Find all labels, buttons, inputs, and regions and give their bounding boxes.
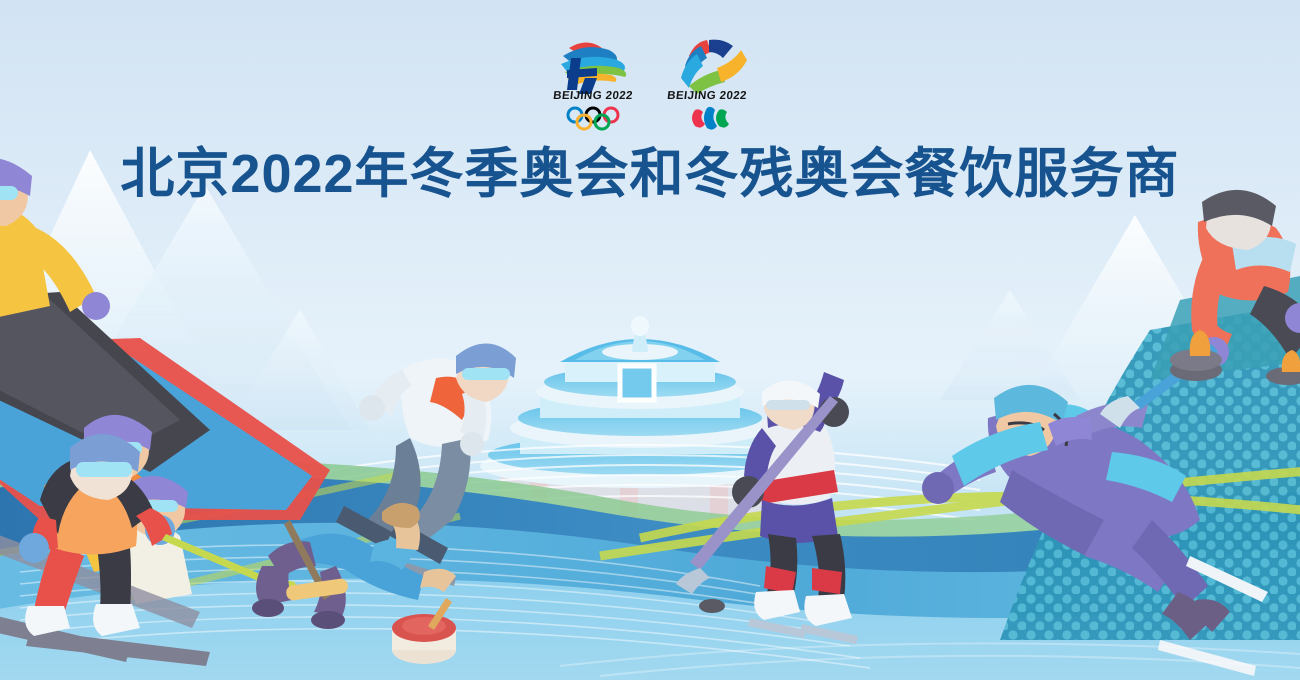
- paralympic-wordmark: BEIJING 2022: [658, 90, 755, 102]
- olympic-wordmark: BEIJING 2022: [544, 90, 641, 102]
- olympic-emblem-mark: [545, 34, 641, 96]
- emblem-row: BEIJING 2022 BEIJING 20: [0, 34, 1300, 134]
- beijing-2022-olympic-emblem: BEIJING 2022: [545, 34, 641, 134]
- page-title: 北京2022年冬季奥会和冬残奥会餐饮服务商: [0, 142, 1300, 206]
- beijing-2022-paralympic-emblem: BEIJING 2022: [659, 34, 755, 134]
- agitos-icon: [659, 106, 755, 132]
- olympic-rings-icon: [545, 106, 641, 132]
- olympic-banner: BEIJING 2022 BEIJING 20: [0, 0, 1300, 680]
- paralympic-emblem-mark: [659, 34, 755, 96]
